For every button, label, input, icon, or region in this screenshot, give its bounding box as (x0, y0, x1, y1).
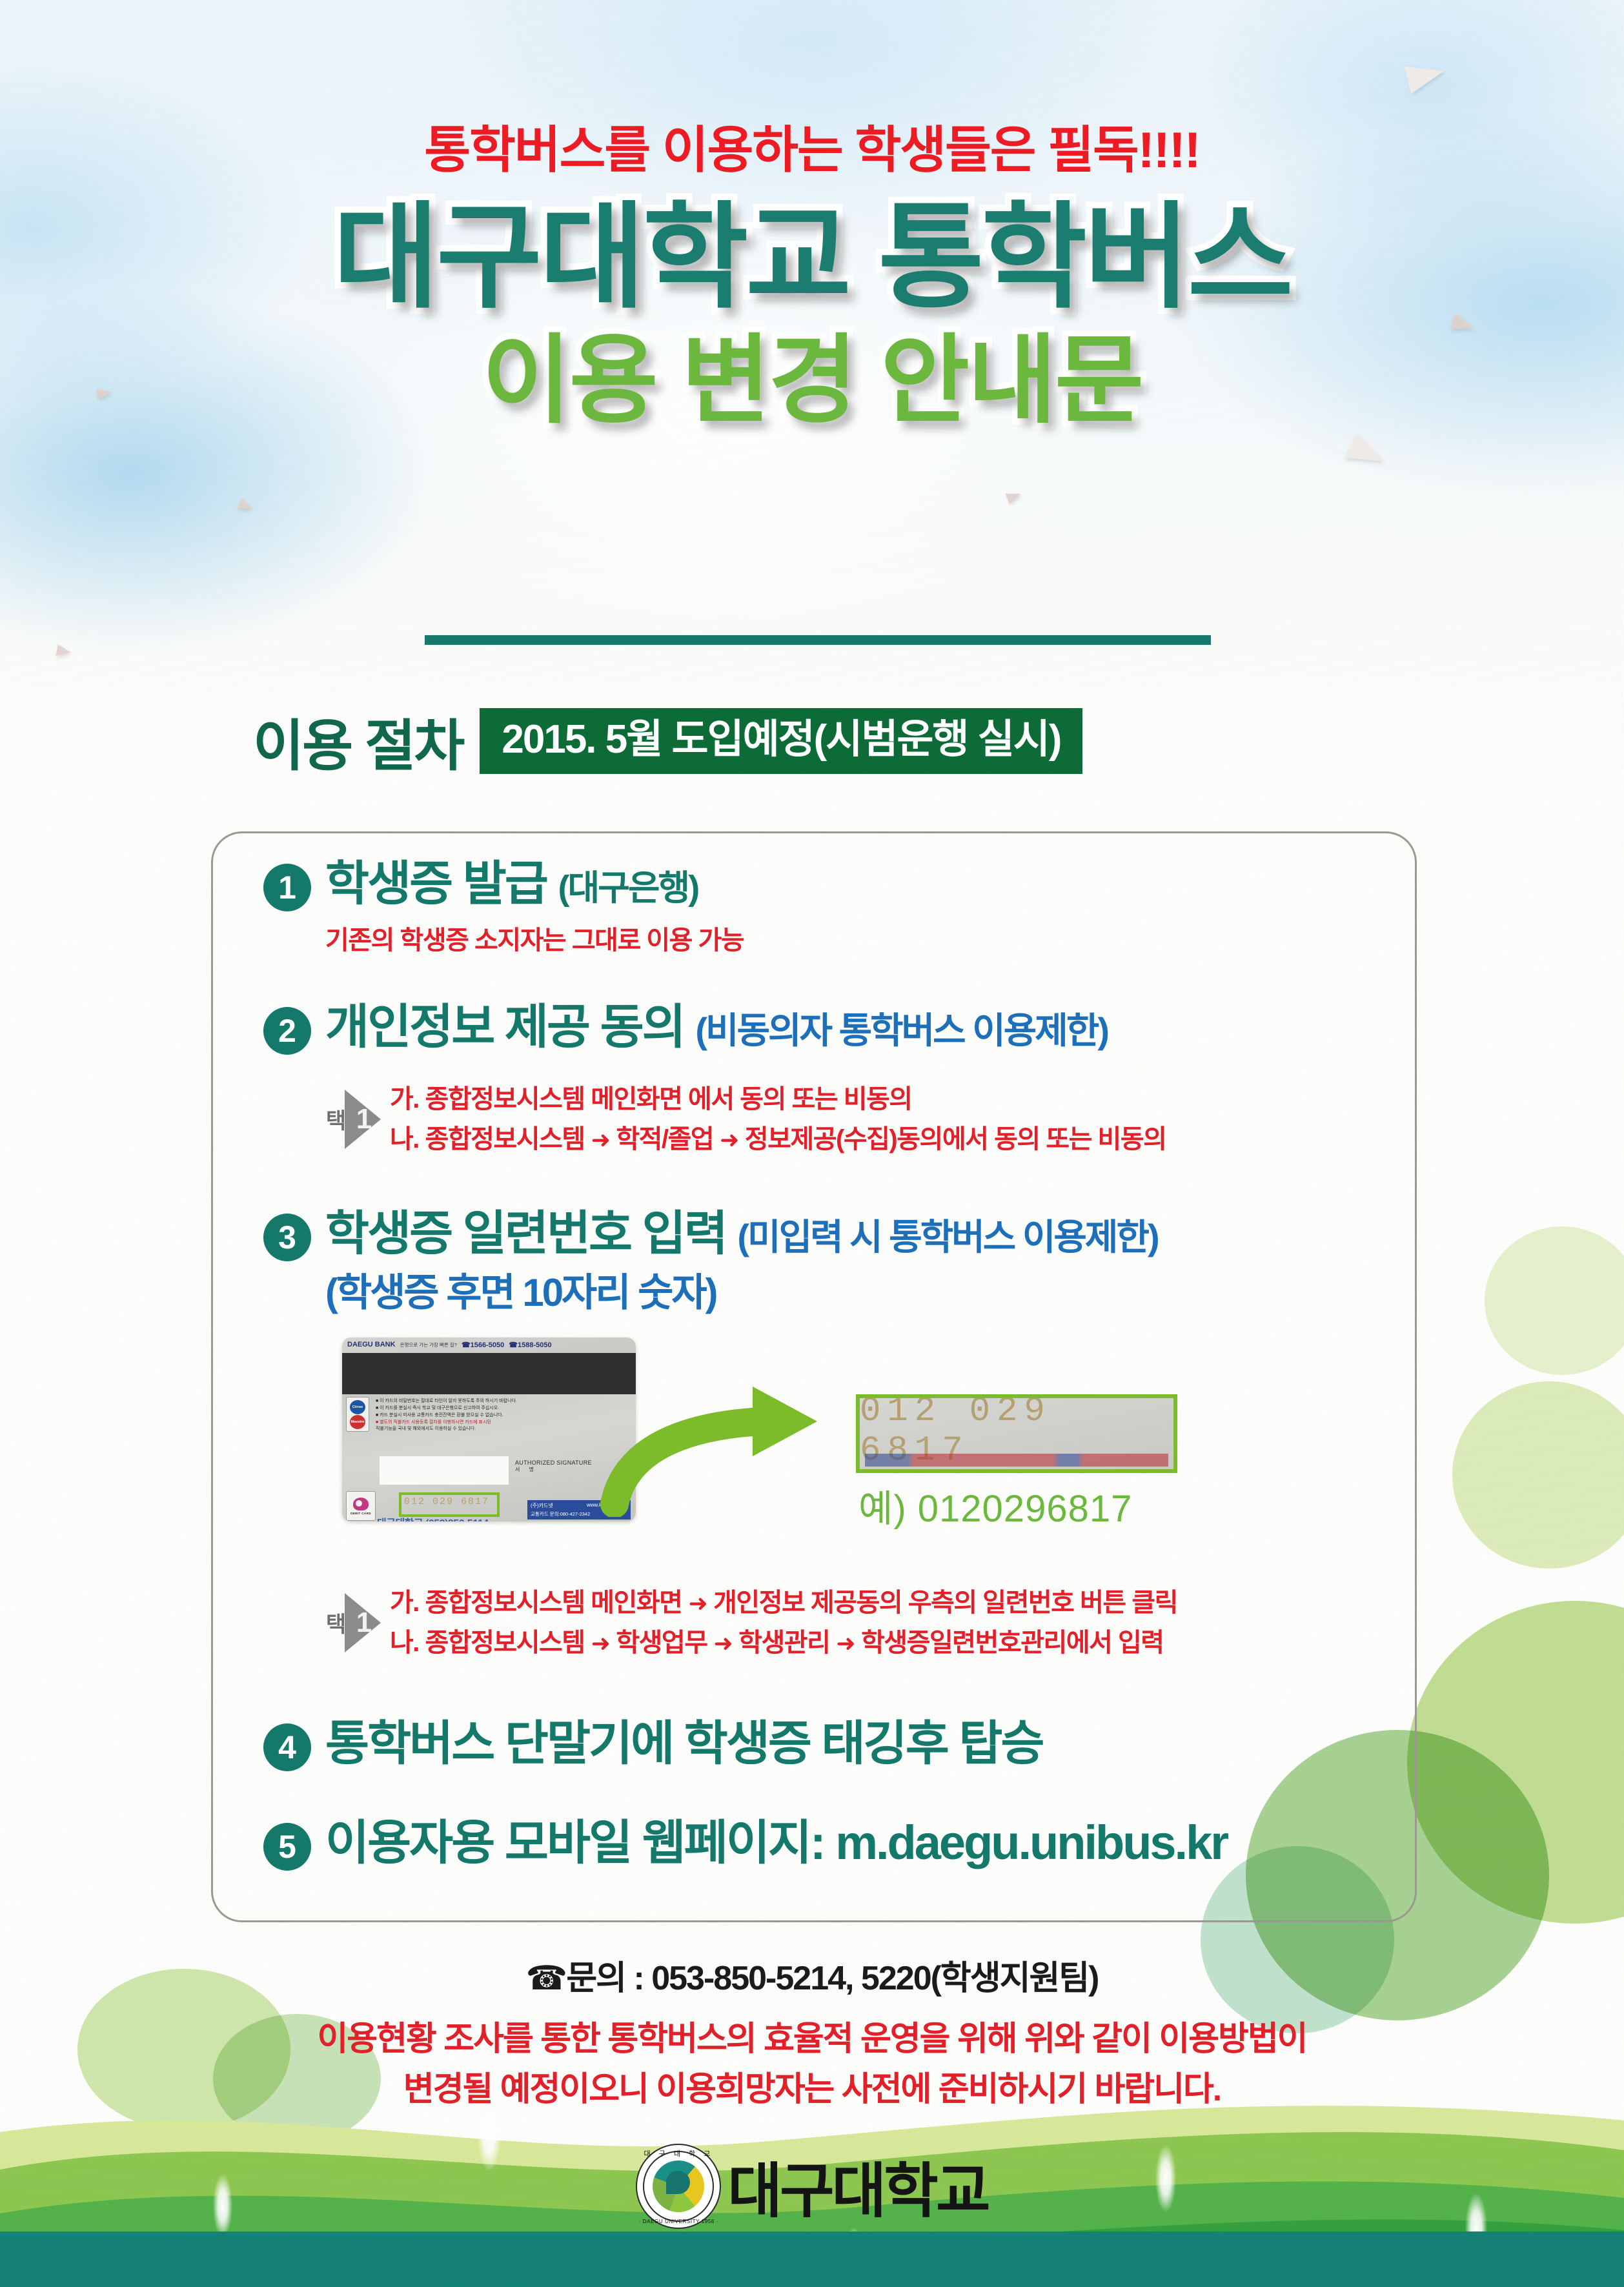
arrow-icon: ➜ (585, 1126, 616, 1153)
cirrus-logo: Cirrus (350, 1400, 365, 1414)
university-logo: 대 구 대 학 교 · DAEGU UNIVERSITY 1956 · 대구대학… (0, 2143, 1624, 2229)
card-network-logos: Cirrus Maestro (346, 1397, 369, 1432)
seal-english-text: · DAEGU UNIVERSITY 1956 · (637, 2219, 720, 2224)
signature-panel (380, 1456, 509, 1485)
step-3: 3 학생증 일련번호 입력 (미입력 시 통학버스 이용제한) (학생증 후면 … (263, 1208, 1158, 1317)
seal-emblem (653, 2160, 704, 2212)
section-label: 이용 절차 (253, 700, 463, 781)
card-terms: ■ 이 카드의 비밀번호는 절대로 타인이 알지 못하도록 주의 하시기 바랍니… (376, 1398, 631, 1433)
pick-label: 택 (323, 1109, 345, 1130)
kicker-headline: 통학버스를 이용하는 학생들은 필독!!!! (0, 110, 1624, 182)
card-term-line: ■ 이 카드의 비밀번호는 절대로 타인이 알지 못하도록 주의 하시기 바랍니… (376, 1398, 631, 1405)
step-number-badge: 3 (263, 1214, 311, 1261)
pick-count: 1 (350, 1104, 378, 1135)
contact-line: ☎문의 : 053-850-5214, 5220(학생지원팀) (0, 1951, 1624, 1999)
pick-part: 학생업무 (616, 1629, 707, 1657)
step-number-badge: 2 (263, 1007, 311, 1055)
step-number-badge: 1 (263, 864, 311, 911)
student-card-image: DAEGU BANK 은행으로 가는 가장 빠른 길? ☎1566-5050 ☎… (342, 1337, 636, 1521)
bank-name: DAEGU BANK (347, 1341, 396, 1348)
step-2: 2 개인정보 제공 동의 (비동의자 통학버스 이용제한) (263, 1002, 1108, 1055)
pick-line: 나. 종합정보시스템➜학생업무➜학생관리➜학생증일련번호관리에서 입력 (390, 1623, 1177, 1663)
bank-tagline: 은행으로 가는 가장 빠른 길? (400, 1341, 457, 1348)
step-1-paren: (대구은행) (558, 869, 698, 908)
arrow-icon: ➜ (713, 1126, 745, 1153)
step-1: 1 학생증 발급 (대구은행) 기존의 학생증 소지자는 그대로 이용 가능 (263, 859, 744, 957)
pick-one-marker: 택 1 (323, 1593, 381, 1652)
notice-block: 이용현황 조사를 통한 통학버스의 효율적 운영을 위해 위와 같이 이용방법이… (0, 2014, 1624, 2115)
step-1-note: 기존의 학생증 소지자는 그대로 이용 가능 (325, 919, 744, 957)
pick-one-marker: 택 1 (323, 1090, 381, 1149)
pick-part: 종합정보시스템 (425, 1125, 585, 1154)
step-3-heading: 학생증 일련번호 입력 (325, 1206, 726, 1260)
pick-part: 학생증일련번호관리에서 입력 (861, 1629, 1164, 1657)
card-serial-number: 012 029 6817 (404, 1496, 489, 1507)
title-divider (425, 635, 1211, 645)
signature-kr: 서 명 (515, 1467, 592, 1474)
step-3-paren: (미입력 시 통학버스 이용제한) (737, 1217, 1157, 1257)
step-number-badge: 5 (263, 1823, 311, 1871)
debit-label: DEBIT CARD (350, 1512, 371, 1515)
magnified-serial-box: 012 029 6817 (856, 1394, 1177, 1473)
pick-line: 가. 종합정보시스템 메인화면 에서 동의 또는 비동의 (390, 1079, 1166, 1119)
pick-part: 종합정보시스템 메인화면 (425, 1589, 682, 1617)
section-banner: 2015. 5월 도입예정(시범운행 실시) (480, 708, 1082, 774)
card-term-line: ■ 카드 분실시 미사용 교통카드 충전잔액은 환불 받으실 수 없습니다. (376, 1412, 631, 1419)
step-2-paren: (비동의자 통학버스 이용제한) (695, 1010, 1108, 1051)
section-header: 이용 절차 2015. 5월 도입예정(시범운행 실시) (253, 700, 1082, 781)
pick-line: 가. 종합정보시스템 메인화면➜개인정보 제공동의 우측의 일련번호 버튼 클릭 (390, 1583, 1177, 1623)
pick-prefix: 가. (390, 1589, 425, 1617)
signature-en: AUTHORIZED SIGNATURE (515, 1459, 592, 1467)
arrow-icon: ➜ (707, 1630, 739, 1656)
serial-example-text: 예) 0120296817 (858, 1478, 1132, 1532)
triangle-icon: 1 (345, 1593, 381, 1652)
card-bank-header: DAEGU BANK 은행으로 가는 가장 빠른 길? ☎1566-5050 ☎… (342, 1337, 636, 1352)
notice-line-2: 변경될 예정이오니 이용희망자는 사전에 준비하시기 바랍니다. (0, 2064, 1624, 2115)
card-university-phone: 대구대학교 (053)850-5114 (377, 1514, 489, 1521)
authorized-signature-label: AUTHORIZED SIGNATURE 서 명 (515, 1459, 592, 1474)
callout-arrow-icon (600, 1349, 871, 1517)
triangle-icon: 1 (345, 1090, 381, 1149)
pick-one-lines-1: 가. 종합정보시스템 메인화면 에서 동의 또는 비동의 나. 종합정보시스템➜… (390, 1079, 1166, 1159)
step-5: 5 이용자용 모바일 웹페이지: m.daegu.unibus.kr (263, 1818, 1227, 1871)
title-line-1: 대구대학교 통학버스 (0, 200, 1624, 315)
pick-one-block-1: 택 1 가. 종합정보시스템 메인화면 에서 동의 또는 비동의 나. 종합정보… (323, 1079, 1166, 1159)
card-term-line: ■ 별도의 직불카드 사용등록 절차를 이행하시면 카드에 표시된 (376, 1419, 631, 1427)
pick-count: 1 (350, 1607, 378, 1638)
pick-part: 학생관리 (738, 1629, 829, 1657)
bank-phone-2: ☎1588-5050 (509, 1341, 551, 1349)
arrow-icon: ➜ (682, 1590, 713, 1616)
debit-shape-icon (353, 1498, 369, 1510)
bank-phone-1: ☎1566-5050 (462, 1341, 504, 1349)
step-1-heading: 학생증 발급 (325, 857, 547, 910)
pick-part: 개인정보 제공동의 우측의 일련번호 버튼 클릭 (713, 1589, 1177, 1617)
debit-card-logo: DEBIT CARD (346, 1491, 376, 1521)
poster-title: 대구대학교 통학버스 이용 변경 안내문 (0, 200, 1624, 429)
university-seal-icon: 대 구 대 학 교 · DAEGU UNIVERSITY 1956 · (636, 2144, 721, 2229)
notice-line-1: 이용현황 조사를 통한 통학버스의 효율적 운영을 위해 위와 같이 이용방법이 (0, 2014, 1624, 2064)
pick-prefix: 나. (390, 1125, 425, 1154)
pick-part: 종합정보시스템 (425, 1629, 585, 1657)
step-3-subnote: (학생증 후면 10자리 숫자) (325, 1261, 1158, 1317)
pick-one-lines-2: 가. 종합정보시스템 메인화면➜개인정보 제공동의 우측의 일련번호 버튼 클릭… (390, 1583, 1177, 1663)
pick-line: 나. 종합정보시스템➜학적/졸업➜정보제공(수집)동의에서 동의 또는 비동의 (390, 1119, 1166, 1159)
pick-part: 종합정보시스템 메인화면 에서 동의 또는 비동의 (425, 1085, 912, 1113)
university-wordmark: 대구대학교 (727, 2143, 988, 2229)
poster-content: 통학버스를 이용하는 학생들은 필독!!!! 대구대학교 통학버스 이용 변경 … (0, 0, 1624, 2287)
magnified-underprint (865, 1454, 1168, 1467)
card-term-line: ■ 이 카드를 분실시 즉시 학교 및 대구은행으로 신고하여 주십시오. (376, 1405, 631, 1412)
pick-label: 택 (323, 1612, 345, 1634)
kardnet-name: (주)카드넷 (531, 1502, 553, 1509)
magnetic-stripe (342, 1353, 636, 1394)
card-term-line: 직불기능을 국내 및 해외에서도 이용하실 수 있습니다. (376, 1426, 631, 1433)
pick-part: 정보제공(수집)동의에서 동의 또는 비동의 (745, 1125, 1166, 1154)
pick-part: 학적/졸업 (616, 1125, 713, 1154)
pick-one-block-2: 택 1 가. 종합정보시스템 메인화면➜개인정보 제공동의 우측의 일련번호 버… (323, 1583, 1177, 1663)
pick-prefix: 나. (390, 1629, 425, 1657)
step-2-heading: 개인정보 제공 동의 (325, 1000, 684, 1053)
maestro-logo: Maestro (350, 1415, 365, 1429)
step-5-heading: 이용자용 모바일 웹페이지: m.daegu.unibus.kr (325, 1818, 1227, 1868)
step-number-badge: 4 (263, 1723, 311, 1771)
step-4: 4 통학버스 단말기에 학생증 태깅후 탑승 (263, 1718, 1043, 1771)
title-line-2: 이용 변경 안내문 (0, 332, 1624, 429)
step-4-heading: 통학버스 단말기에 학생증 태깅후 탑승 (325, 1718, 1043, 1769)
pick-prefix: 가. (390, 1085, 425, 1113)
arrow-icon: ➜ (585, 1630, 616, 1656)
seal-korean-text: 대 구 대 학 교 (637, 2148, 720, 2159)
arrow-icon: ➜ (829, 1630, 861, 1656)
